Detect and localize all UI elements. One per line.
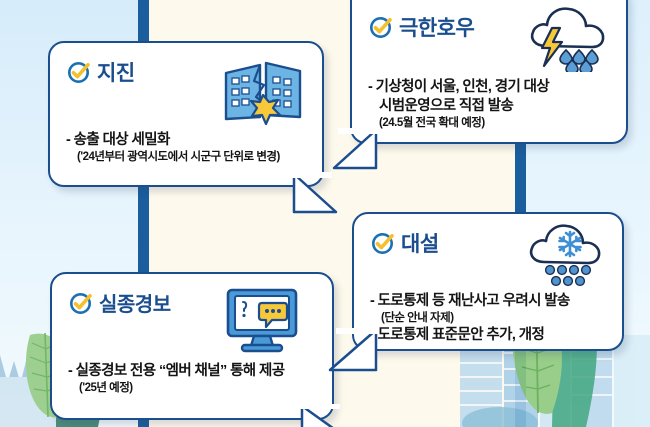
bullet-line: - 기상청이 서울, 인천, 경기 대상 [368, 78, 616, 97]
bullet-line: - 송출 대상 세밀화 [66, 131, 312, 150]
check-circle-icon [368, 14, 394, 40]
card-rain[interactable]: 극한호우 - 기상청이 서울, 인천, 경기 대상 시범운영으로 직접 발송 (… [350, 0, 628, 144]
cracked-buildings-icon [220, 53, 306, 127]
bullet-line-continued: 시범운영으로 직접 발송 [368, 97, 616, 116]
card-header-snow: 대설 [354, 214, 622, 288]
infographic-canvas: 지진 - 송출 대상 세밀화 ('24년부터 광역시도에서 시군구 단위로 [0, 0, 650, 427]
card-body-snow: - 도로통제 등 재난사고 우려시 발송 (단순 안내 자제) - 도로통제 표… [354, 288, 622, 355]
card-tail-snow [326, 328, 378, 378]
bullet-line: - 도로통제 등 재난사고 우려시 발송 [370, 292, 612, 311]
thunderstorm-rain-cloud-icon [526, 4, 610, 72]
card-header-missing: 실종경보 [52, 274, 332, 354]
card-body-missing: - 실종경보 전용 “엠버 채널” 통해 제공 ('25년 예정) [52, 354, 332, 406]
bullet-subtext: ('24년부터 광역시도에서 시군구 단위로 변경) [66, 150, 312, 165]
bullet-subtext: (단순 안내 자제) [370, 311, 612, 326]
card-title-snow: 대설 [401, 228, 439, 258]
card-title-earthquake: 지진 [97, 57, 135, 87]
card-header-earthquake: 지진 [50, 43, 322, 127]
check-circle-icon [66, 59, 92, 85]
card-body-rain: - 기상청이 서울, 인천, 경기 대상 시범운영으로 직접 발송 (24.5월… [352, 72, 626, 141]
card-header-rain: 극한호우 [352, 0, 626, 72]
card-title-rain: 극한호우 [399, 12, 474, 42]
card-snow[interactable]: 대설 - 도로통제 등 재난사고 우려시 발송 [352, 212, 624, 351]
bullet-subtext: (24.5월 전국 확대 예정) [368, 116, 616, 131]
check-circle-icon [68, 290, 94, 316]
title-wrap-missing: 실종경보 [68, 284, 171, 317]
title-wrap-earthquake: 지진 [66, 53, 135, 87]
check-circle-icon [370, 230, 396, 256]
snow-cloud-icon [524, 222, 606, 288]
card-missing[interactable]: 실종경보 - 실종경보 전용 “엠버 채널” 통해 제공 ('25년 예정) [50, 272, 334, 420]
monitor-message-icon [220, 284, 304, 354]
title-wrap-snow: 대설 [370, 224, 439, 258]
card-body-earthquake: - 송출 대상 세밀화 ('24년부터 광역시도에서 시군구 단위로 변경) [50, 127, 322, 175]
bullet-line: - 도로통제 표준문안 추가, 개정 [370, 326, 612, 345]
card-earthquake[interactable]: 지진 - 송출 대상 세밀화 ('24년부터 광역시도에서 시군구 단위로 [48, 41, 324, 187]
card-title-missing: 실종경보 [99, 288, 171, 317]
card-tail-rain [330, 128, 378, 176]
bullet-subtext: ('25년 예정) [68, 381, 322, 396]
title-wrap-rain: 극한호우 [368, 8, 474, 42]
card-tail-earthquake [292, 172, 338, 220]
card-tail-missing [300, 404, 346, 427]
bullet-line: - 실종경보 전용 “엠버 채널” 통해 제공 [68, 362, 322, 381]
